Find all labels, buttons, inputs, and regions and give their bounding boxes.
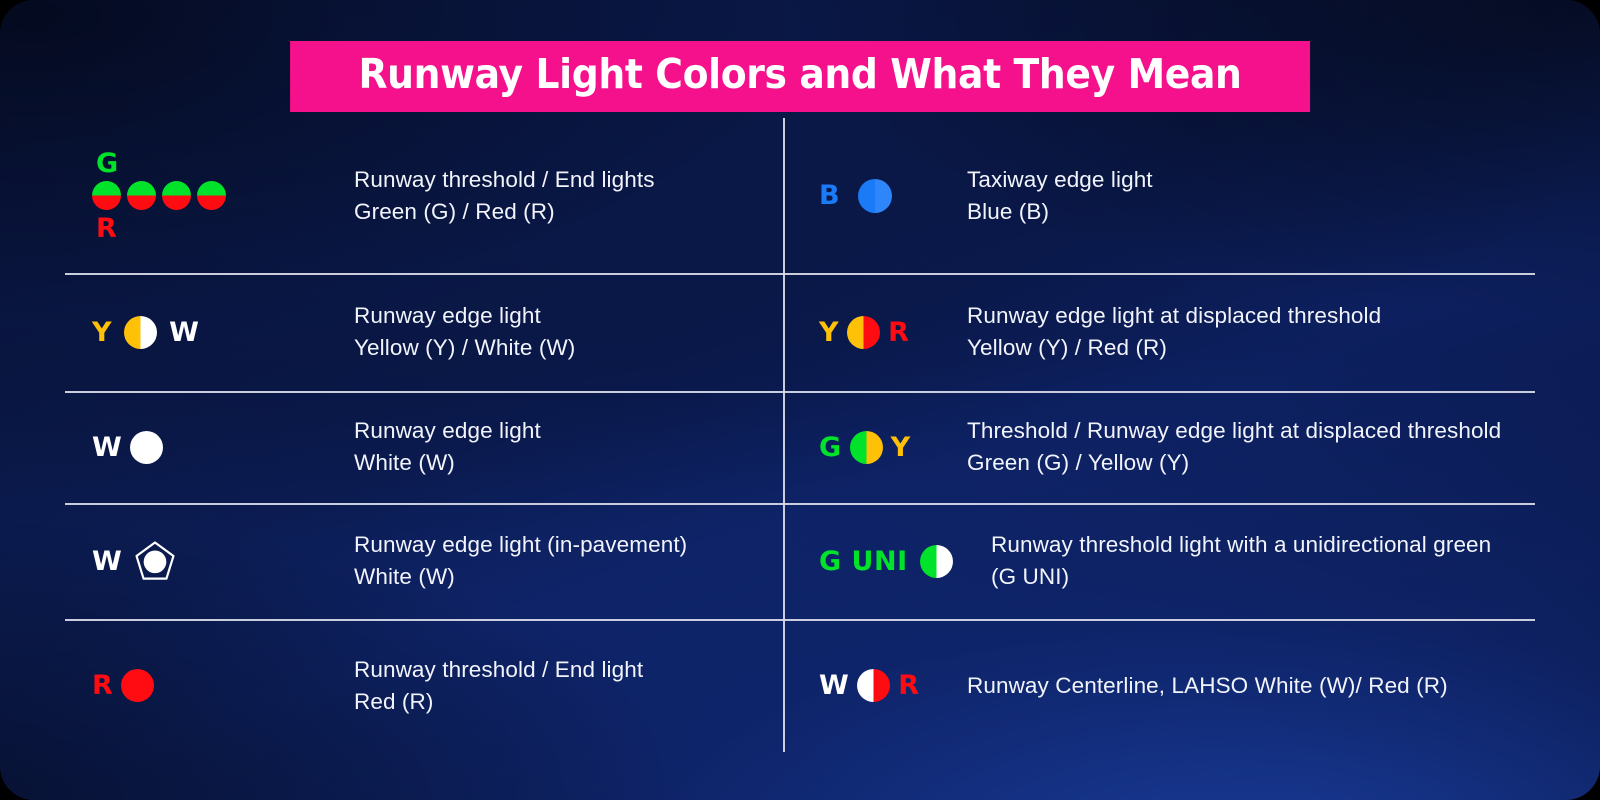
light-tag-left: W bbox=[819, 672, 849, 699]
symbol-white-in-pavement-light: W bbox=[65, 540, 354, 582]
green-white-dot bbox=[920, 545, 953, 578]
light-tag-left: G UNI bbox=[819, 548, 908, 575]
light-tag-left: G bbox=[819, 434, 842, 461]
yellow-red-dot bbox=[847, 316, 880, 349]
symbol-green-white-unidirectional-light: G UNI bbox=[819, 545, 991, 578]
table-cell-right: Y R Runway edge light at displaced thres… bbox=[783, 273, 1535, 391]
green-red-dot bbox=[127, 181, 156, 210]
green-red-dot bbox=[162, 181, 191, 210]
table-cell-right: G UNI Runway threshold light with a unid… bbox=[783, 503, 1535, 619]
table-row: W Runway edge light White (W) G Y Thresh… bbox=[65, 391, 1535, 503]
table-cell-right: B Taxiway edge light Blue (B) bbox=[783, 118, 1535, 273]
table-row: W Runway edge light (in-pavement) White … bbox=[65, 503, 1535, 619]
description-text: Runway edge light at displaced threshold… bbox=[967, 300, 1381, 364]
light-tag-left: W bbox=[92, 548, 122, 575]
symbol-green-over-red-light-bar: G R bbox=[65, 150, 354, 242]
table-row: G R Runway threshold / End lights Green … bbox=[65, 118, 1535, 273]
white-red-dot bbox=[857, 669, 890, 702]
green-yellow-dot bbox=[850, 431, 883, 464]
description-text: Threshold / Runway edge light at displac… bbox=[967, 415, 1501, 479]
red-dot bbox=[121, 669, 154, 702]
title-banner: Runway Light Colors and What They Mean bbox=[290, 41, 1310, 112]
symbol-yellow-white-split-light: Y W bbox=[65, 316, 354, 349]
table-cell-left: W Runway edge light White (W) bbox=[65, 391, 783, 503]
light-dot-row bbox=[92, 181, 226, 210]
light-tag-right: R bbox=[888, 319, 909, 346]
symbol-green-yellow-split-light: G Y bbox=[819, 431, 967, 464]
description-text: Runway edge light (in-pavement) White (W… bbox=[354, 529, 687, 593]
description-text: Runway threshold light with a unidirecti… bbox=[991, 529, 1491, 593]
light-tag-right: Y bbox=[891, 434, 911, 461]
symbol-red-light: R bbox=[65, 669, 354, 702]
description-text: Runway threshold / End light Red (R) bbox=[354, 654, 643, 718]
symbol-yellow-red-split-light: Y R bbox=[819, 316, 967, 349]
light-tag-right: W bbox=[169, 319, 199, 346]
description-text: Taxiway edge light Blue (B) bbox=[967, 164, 1153, 228]
symbol-white-red-split-light: W R bbox=[819, 669, 967, 702]
pentagon-in-pavement-icon bbox=[134, 540, 176, 582]
description-text: Runway Centerline, LAHSO White (W)/ Red … bbox=[967, 670, 1448, 702]
table-row: R Runway threshold / End light Red (R) W… bbox=[65, 619, 1535, 752]
page-title: Runway Light Colors and What They Mean bbox=[358, 54, 1241, 95]
table-cell-left: G R Runway threshold / End lights Green … bbox=[65, 118, 783, 273]
light-tag-bottom: R bbox=[96, 215, 117, 242]
light-tag-right: R bbox=[898, 672, 919, 699]
table-cell-right: G Y Threshold / Runway edge light at dis… bbox=[783, 391, 1535, 503]
green-red-dot bbox=[92, 181, 121, 210]
description-text: Runway edge light Yellow (Y) / White (W) bbox=[354, 300, 575, 364]
description-text: Runway edge light White (W) bbox=[354, 415, 541, 479]
light-tag-left: R bbox=[92, 672, 113, 699]
yellow-white-dot bbox=[124, 316, 157, 349]
blue-dot bbox=[858, 179, 892, 213]
light-tag-left: Y bbox=[819, 319, 839, 346]
table-cell-left: Y W Runway edge light Yellow (Y) / White… bbox=[65, 273, 783, 391]
table-cell-right: W R Runway Centerline, LAHSO White (W)/ … bbox=[783, 619, 1535, 752]
light-tag-left: W bbox=[92, 434, 122, 461]
light-tag-left: Y bbox=[92, 319, 112, 346]
table-cell-left: R Runway threshold / End light Red (R) bbox=[65, 619, 783, 752]
green-red-dot bbox=[197, 181, 226, 210]
symbol-white-light: W bbox=[65, 431, 354, 464]
table-row: Y W Runway edge light Yellow (Y) / White… bbox=[65, 273, 1535, 391]
infographic-card: Runway Light Colors and What They Mean G bbox=[0, 0, 1600, 800]
light-tag-top: G bbox=[96, 150, 119, 177]
light-tag-left: B bbox=[819, 182, 840, 209]
description-text: Runway threshold / End lights Green (G) … bbox=[354, 164, 655, 228]
symbol-blue-light: B bbox=[819, 179, 967, 213]
table-cell-left: W Runway edge light (in-pavement) White … bbox=[65, 503, 783, 619]
white-dot bbox=[130, 431, 163, 464]
light-colors-table: G R Runway threshold / End lights Green … bbox=[65, 118, 1535, 752]
